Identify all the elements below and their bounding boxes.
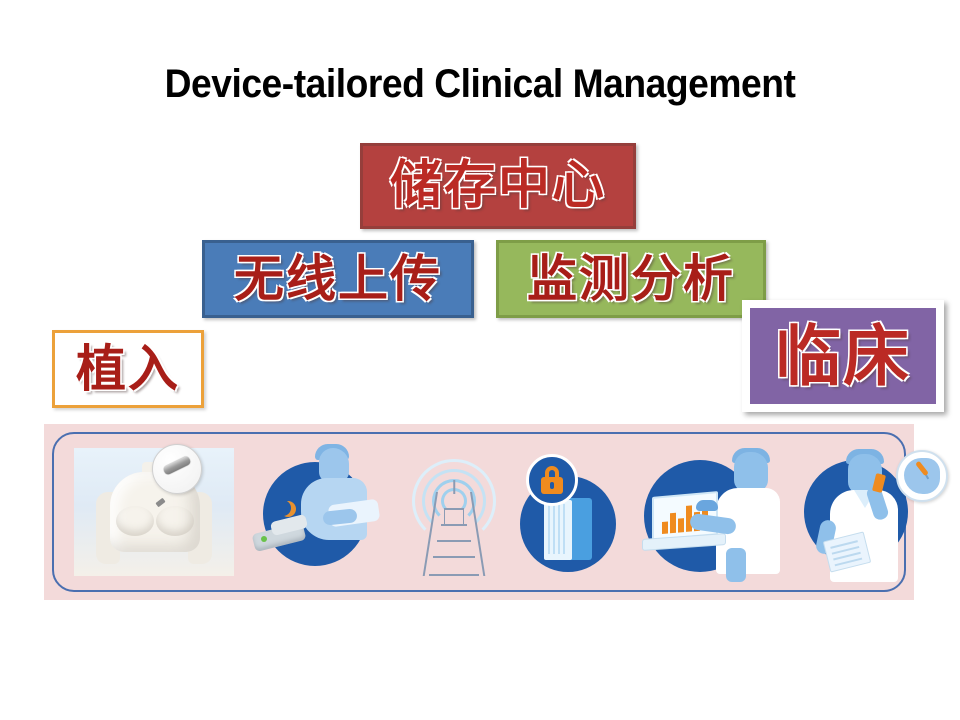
device-magnifier-icon <box>896 450 948 502</box>
stage-box-implantation[interactable]: 植入 <box>52 330 204 408</box>
device-magnifier-icon <box>152 444 202 494</box>
mouse-icon <box>696 500 718 511</box>
tower-mast <box>426 492 482 576</box>
implanted-device-torso-icon <box>74 448 234 576</box>
wireless-transmission-tower-icon <box>399 450 509 576</box>
stage-label-implantation: 植入 <box>76 344 180 394</box>
doctor-phone-clipboard-icon <box>804 444 950 584</box>
stage-label-clinical: 临床 <box>775 323 911 389</box>
secure-data-server-lock-icon <box>512 454 632 576</box>
analyst-laptop-chart-icon <box>634 444 804 582</box>
server-rack-icon <box>544 500 572 560</box>
stage-box-clinical[interactable]: 临床 <box>742 300 944 412</box>
stage-box-storage-center[interactable]: 储存中心 <box>360 143 636 229</box>
stage-box-monitoring-analysis[interactable]: 监测分析 <box>496 240 766 318</box>
stage-label-storage-center: 储存中心 <box>390 160 606 212</box>
moon-icon <box>275 500 291 516</box>
bedside-monitor-icon <box>253 518 309 546</box>
stage-box-wireless-upload[interactable]: 无线上传 <box>202 240 474 318</box>
page-title: Device-tailored Clinical Management <box>34 62 927 107</box>
stage-label-wireless-upload: 无线上传 <box>234 254 442 304</box>
sleeping-patient-bedside-monitor-icon <box>249 444 389 580</box>
lock-icon <box>526 454 578 506</box>
slide-canvas: Device-tailored Clinical Management 储存中心… <box>0 0 960 720</box>
workflow-strip <box>44 424 914 600</box>
stage-label-monitoring-analysis: 监测分析 <box>527 254 735 304</box>
